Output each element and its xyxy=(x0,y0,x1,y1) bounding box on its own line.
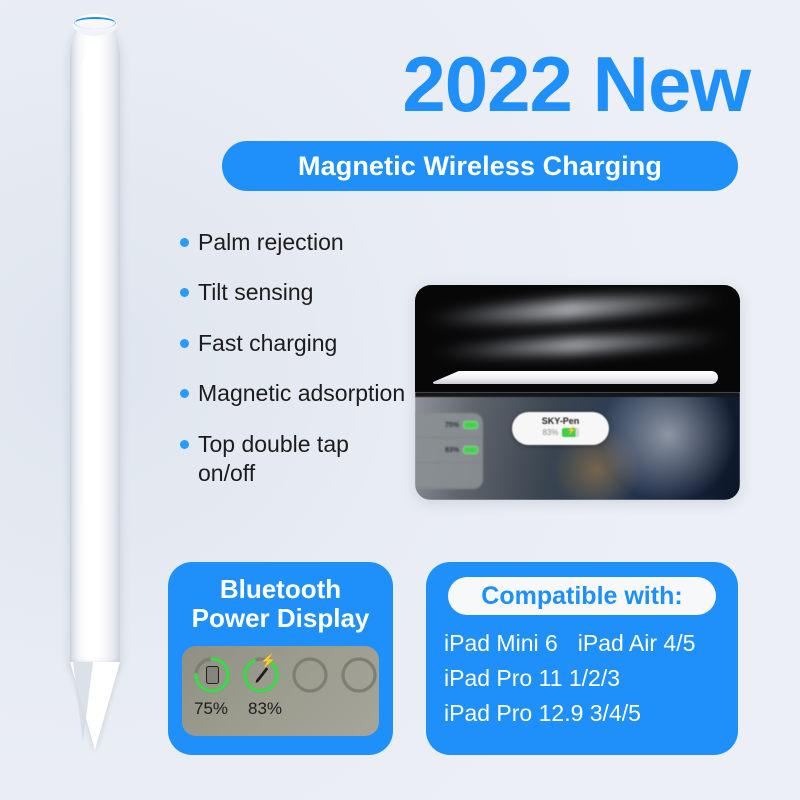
battery-ring-empty xyxy=(290,655,330,695)
toast-percent: 83% xyxy=(542,428,558,437)
lightning-bolt-icon: ⚡ xyxy=(567,427,577,435)
stylus-gloss-highlight xyxy=(83,56,94,656)
bullet-icon xyxy=(180,288,189,297)
subtitle-banner: Magnetic Wireless Charging xyxy=(222,141,738,191)
list-item: Magnetic adsorption xyxy=(180,379,410,408)
bluetooth-power-display-card: Bluetooth Power Display xyxy=(168,562,393,755)
battery-ring-ipad xyxy=(192,655,232,695)
stylus-tip xyxy=(70,662,120,750)
card-title: Bluetooth Power Display xyxy=(168,562,393,633)
card-title-line2: Power Display xyxy=(168,604,393,633)
stylus-body xyxy=(70,22,120,666)
table-row xyxy=(415,463,483,488)
stylus-product-image xyxy=(70,6,120,766)
toast-status: 83% ⚡ xyxy=(512,428,609,437)
list-item: iPad Pro 11 1/2/3 xyxy=(444,661,720,696)
list-item: Fast charging xyxy=(180,329,410,358)
table-row: 83% xyxy=(415,438,483,463)
photo-battery-widget: 75% 83% xyxy=(415,413,483,489)
feature-label: Palm rejection xyxy=(198,228,344,257)
stylus-tip-shadow xyxy=(73,662,93,742)
device-model: iPad Air 4/5 xyxy=(578,626,696,661)
compatibility-card: Compatible with: iPad Mini 6 iPad Air 4/… xyxy=(426,562,738,755)
battery-ring-group: ⚡ xyxy=(182,646,379,695)
photo-attached-stylus xyxy=(433,371,718,384)
table-row: 75% xyxy=(415,413,483,438)
feature-list: Palm rejection Tilt sensing Fast chargin… xyxy=(180,228,410,510)
stylus-blue-ring-accent xyxy=(74,17,116,29)
list-item: Palm rejection xyxy=(180,228,410,257)
list-item: iPad Pro 12.9 3/4/5 xyxy=(444,696,720,731)
pairing-toast: SKY-Pen 83% ⚡ xyxy=(512,412,609,445)
battery-percent-pencil: 83% xyxy=(248,699,288,719)
device-model: iPad Pro 11 1/2/3 xyxy=(444,661,620,696)
compatibility-label: Compatible with: xyxy=(481,582,682,611)
product-photo-inset: 75% 83% SKY-Pen 83% ⚡ xyxy=(415,285,740,500)
bullet-icon xyxy=(180,389,189,398)
feature-label: Tilt sensing xyxy=(198,278,313,307)
battery-charging-icon: ⚡ xyxy=(562,428,579,437)
toast-device-name: SKY-Pen xyxy=(512,416,609,427)
device-model: iPad Mini 6 xyxy=(444,626,558,661)
product-ad-page: 2022 New Magnetic Wireless Charging Palm… xyxy=(0,0,800,800)
battery-ring-empty xyxy=(339,655,379,695)
battery-widget: ⚡ 75% 83% xyxy=(182,646,379,736)
compatibility-pill: Compatible with: xyxy=(448,577,716,615)
battery-icon xyxy=(463,421,478,429)
feature-label: Magnetic adsorption xyxy=(198,379,405,408)
battery-icon xyxy=(463,446,478,454)
battery-percent: 83% xyxy=(445,447,459,454)
list-item: iPad Mini 6 iPad Air 4/5 xyxy=(444,626,720,661)
photo-glare xyxy=(433,329,728,360)
card-title-line1: Bluetooth xyxy=(168,575,393,604)
feature-label: Fast charging xyxy=(198,329,337,358)
list-item: Top double tap on/off xyxy=(180,430,410,489)
battery-percent-ipad: 75% xyxy=(194,699,234,719)
compatibility-list: iPad Mini 6 iPad Air 4/5 iPad Pro 11 1/2… xyxy=(444,626,720,731)
photo-desk-background: 75% 83% SKY-Pen 83% ⚡ xyxy=(415,392,740,500)
photo-glare xyxy=(425,289,726,330)
battery-percent: 75% xyxy=(445,422,459,429)
subtitle-text: Magnetic Wireless Charging xyxy=(298,151,662,182)
bullet-icon xyxy=(180,238,189,247)
list-item: Tilt sensing xyxy=(180,278,410,307)
photo-ipad-edge xyxy=(415,285,740,392)
device-model: iPad Pro 12.9 3/4/5 xyxy=(444,696,641,731)
page-title: 2022 New xyxy=(330,44,750,126)
feature-label: Top double tap on/off xyxy=(198,430,410,489)
bullet-icon xyxy=(180,440,189,449)
ipad-icon xyxy=(192,655,232,695)
lightning-bolt-icon: ⚡ xyxy=(260,654,276,667)
bullet-icon xyxy=(180,339,189,348)
battery-percent-group: 75% 83% xyxy=(182,695,379,719)
battery-ring-pencil: ⚡ xyxy=(241,655,281,695)
